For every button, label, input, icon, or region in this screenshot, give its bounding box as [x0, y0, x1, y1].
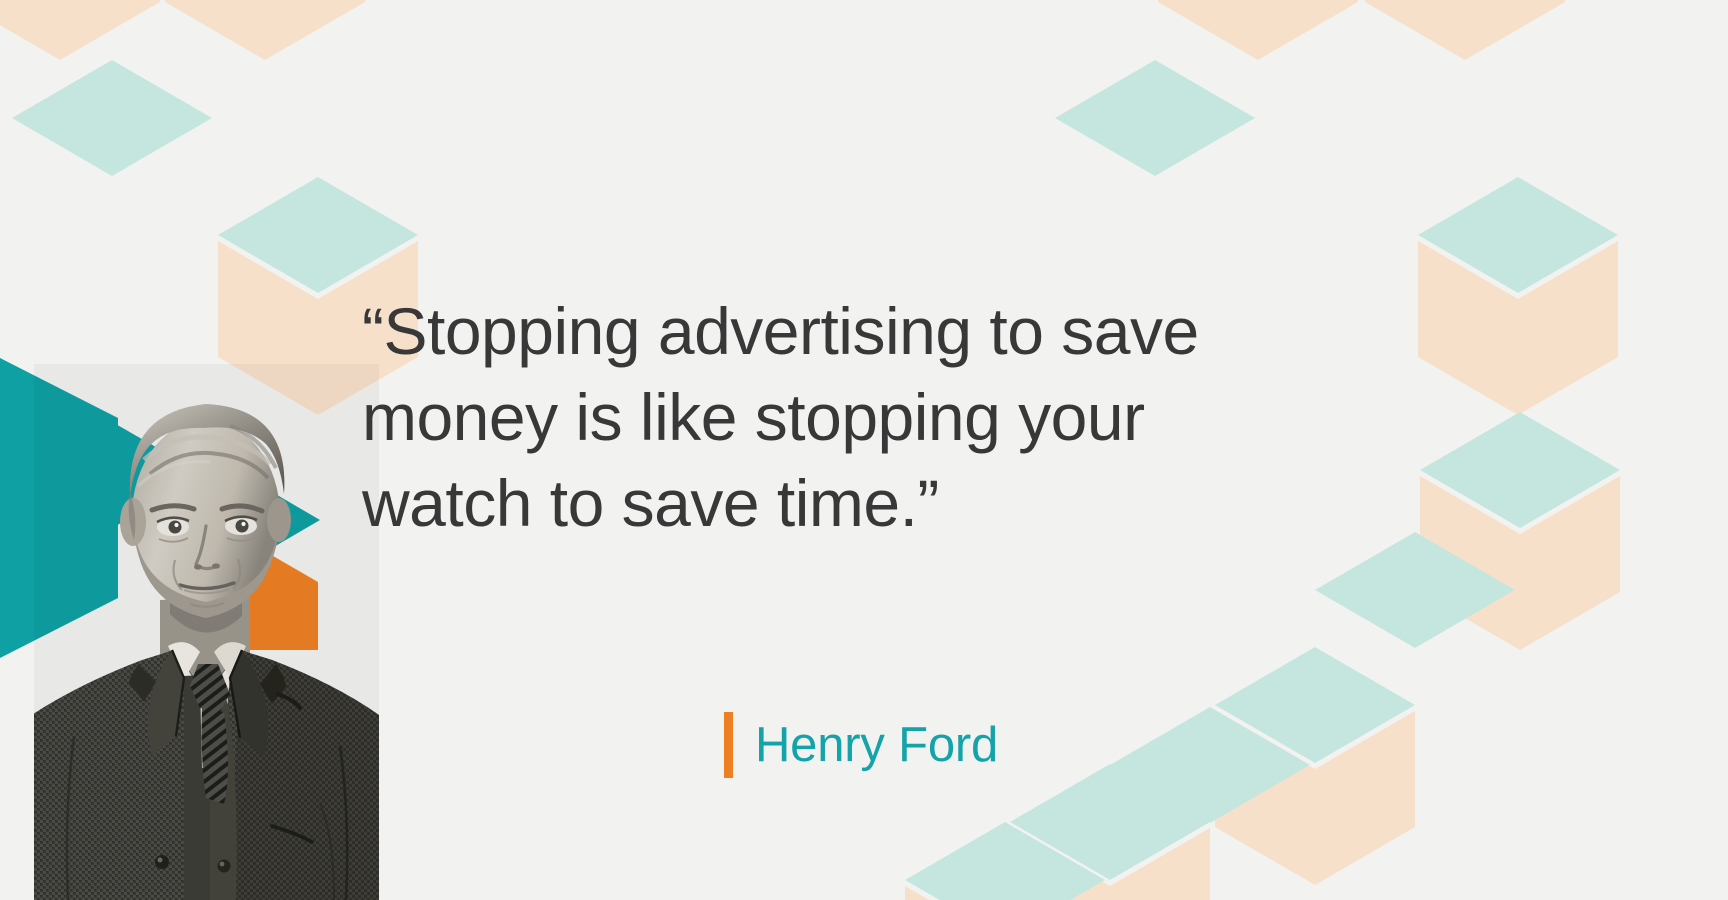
- cube-top-left-a: [0, 0, 160, 60]
- cube-top-right-b: [1055, 60, 1255, 176]
- quote-line-1: “Stopping advertising to save: [362, 288, 1362, 374]
- cube-bottom-right-e: [905, 822, 1105, 900]
- cube-bottom-right-a: [1215, 647, 1415, 885]
- cube-top-left-c: [12, 60, 212, 176]
- cube-right-mid-c: [1315, 532, 1515, 648]
- cube-bottom-right-d: [905, 886, 1105, 900]
- cube-bottom-right-b: [1010, 764, 1210, 900]
- attribution-accent-bar: [724, 712, 733, 778]
- portrait-artwork: [0, 330, 400, 900]
- quote-attribution: Henry Ford: [724, 712, 998, 778]
- quote-card: “Stopping advertising to save money is l…: [0, 0, 1728, 900]
- cube-bottom-right-c: [1110, 707, 1310, 823]
- cube-right-mid-a: [1418, 177, 1618, 415]
- attribution-author-name: Henry Ford: [755, 712, 998, 778]
- cube-top-left-b: [165, 0, 365, 60]
- cube-top-right-a: [1158, 0, 1358, 60]
- portrait-photo-henry-ford: [34, 364, 379, 900]
- cube-right-mid-b: [1420, 412, 1620, 650]
- quote-line-3: watch to save time.”: [362, 460, 1362, 546]
- cube-top-right-c: [1365, 0, 1565, 60]
- quote-text: “Stopping advertising to save money is l…: [362, 288, 1362, 546]
- quote-line-2: money is like stopping your: [362, 374, 1362, 460]
